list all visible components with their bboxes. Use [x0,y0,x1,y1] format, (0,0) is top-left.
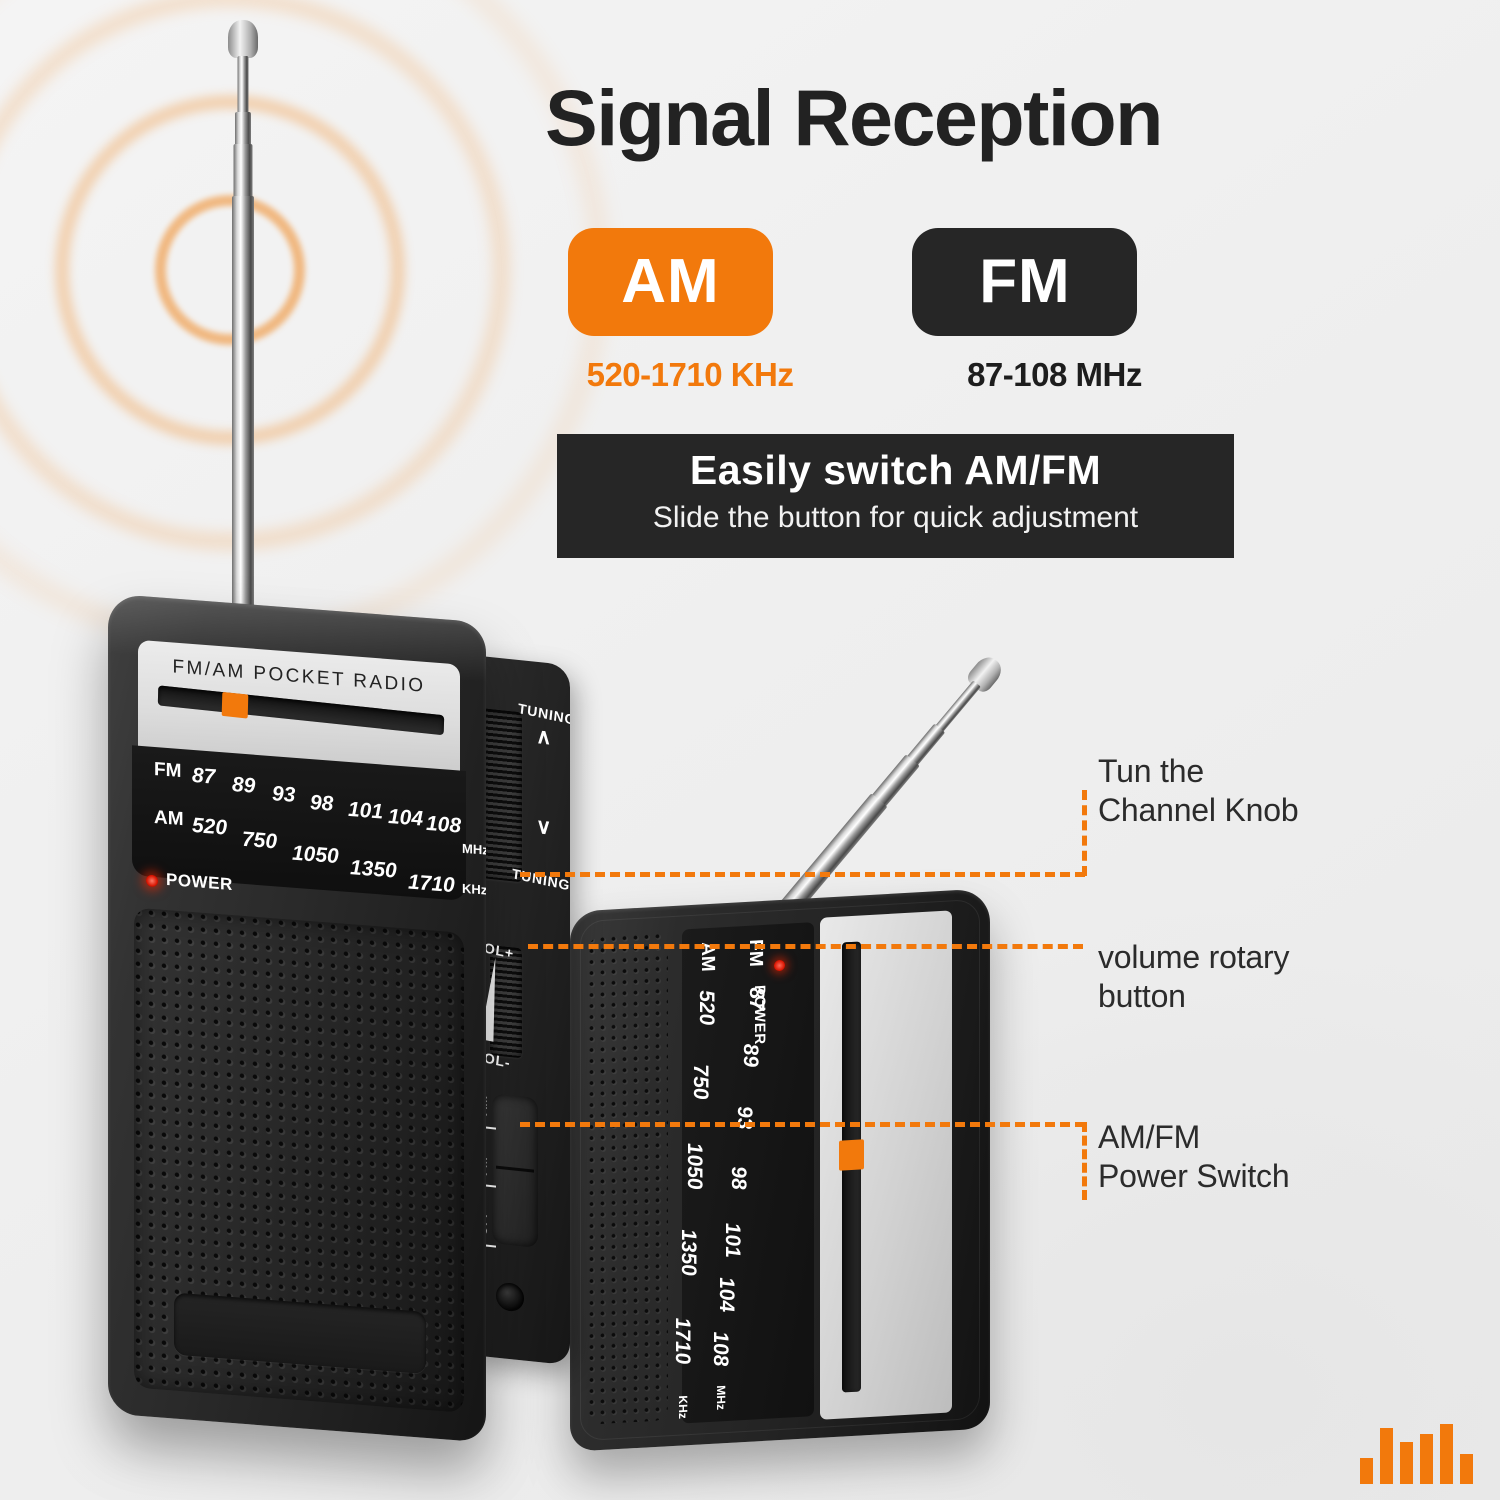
am-badge: AM [568,228,773,336]
leader-line-switch-vertical [1082,1122,1087,1200]
callout-line: Channel Knob [1098,791,1298,830]
fm-tick: 108 [708,1331,732,1367]
infographic-stage: Signal Reception AM FM 520-1710 KHz 87-1… [0,0,1500,1500]
power-led-primary [146,874,158,887]
callout-volume-button: volume rotary button [1098,938,1289,1016]
leader-line-volume [528,944,1083,949]
callout-line: AM/FM [1098,1118,1289,1157]
am-unit-primary: KHz [462,881,486,898]
fm-tick: 104 [714,1276,738,1312]
callout-power-switch: AM/FM Power Switch [1098,1118,1289,1196]
leader-line-tuning-vertical [1082,790,1087,876]
fm-unit-secondary: MHz [714,1385,728,1410]
fm-label-primary: FM [154,759,181,783]
power-led-secondary [774,960,785,972]
am-tick: 750 [688,1064,712,1100]
am-tick: 1710 [670,1317,694,1365]
callout-line: Power Switch [1098,1157,1289,1196]
am-tick: 1710 [408,871,455,899]
callout-line: Tun the [1098,752,1298,791]
signal-bar [1420,1434,1433,1484]
tuning-down-icon[interactable]: ∨ [536,814,551,841]
headphone-jack[interactable] [496,1282,524,1313]
fm-tick: 98 [726,1166,750,1191]
tuning-needle-secondary [839,1139,864,1170]
page-title: Signal Reception [545,78,1445,159]
fm-range: 87-108 MHz [904,356,1204,394]
am-tick: 520 [694,989,718,1025]
leader-line-tuning [520,872,1085,877]
signal-bar [1380,1428,1393,1484]
am-tick: 750 [242,828,277,855]
band-badges: AM FM [568,228,1137,336]
fm-tick: 87 [192,764,215,790]
telescopic-antenna-primary [225,20,261,640]
fm-tick: 89 [232,773,255,799]
fm-unit-primary: MHz [462,841,486,858]
am-unit-secondary: KHz [676,1395,690,1419]
banner-subline: Slide the button for quick adjustment [557,498,1234,537]
tuning-knob[interactable] [482,708,522,882]
signal-bar [1440,1424,1453,1484]
am-tick: 1350 [350,856,397,884]
brand-plate-secondary: FM/AM POCKET RADIO [820,910,952,1419]
am-tick: 1050 [682,1142,706,1190]
band-power-switch[interactable] [492,1093,538,1248]
am-tick: 1050 [292,842,339,870]
banner-headline: Easily switch AM/FM [557,446,1234,494]
callout-line: button [1098,977,1289,1016]
radio-secondary: POWER FM 87 89 93 98 101 104 108 MHz AM … [570,888,990,1451]
am-label-primary: AM [154,807,184,831]
leader-line-switch [520,1122,1085,1127]
signal-waves-icon [0,0,570,610]
fm-tick: 89 [738,1043,762,1068]
fm-badge: FM [912,228,1137,336]
tuning-up-icon[interactable]: ∧ [536,724,551,751]
band-ranges: 520-1710 KHz 87-108 MHz [540,356,1204,394]
fm-tick: 101 [720,1222,744,1258]
fm-tick: 93 [272,782,295,808]
signal-bar [1360,1458,1373,1484]
radio-primary: FM/AM POCKET RADIO FM 87 89 93 98 101 10… [108,593,486,1442]
signal-bar [1460,1454,1473,1484]
speaker-grille-secondary [588,932,668,1424]
fm-tick: 87 [744,987,768,1012]
callout-tuning-knob: Tun the Channel Knob [1098,752,1298,830]
am-tick: 1350 [676,1228,700,1276]
signal-bars-logo [1360,1418,1473,1484]
callout-line: volume rotary [1098,938,1289,977]
dial-scale-secondary: POWER FM 87 89 93 98 101 104 108 MHz AM … [682,922,814,1423]
tuning-label-bottom: TUNING [511,865,570,893]
power-label-primary: POWER [166,870,233,895]
signal-bar [1400,1442,1413,1484]
switch-banner: Easily switch AM/FM Slide the button for… [557,434,1234,558]
am-tick: 520 [192,814,227,841]
am-range: 520-1710 KHz [540,356,840,394]
tuning-needle-primary [222,692,249,719]
